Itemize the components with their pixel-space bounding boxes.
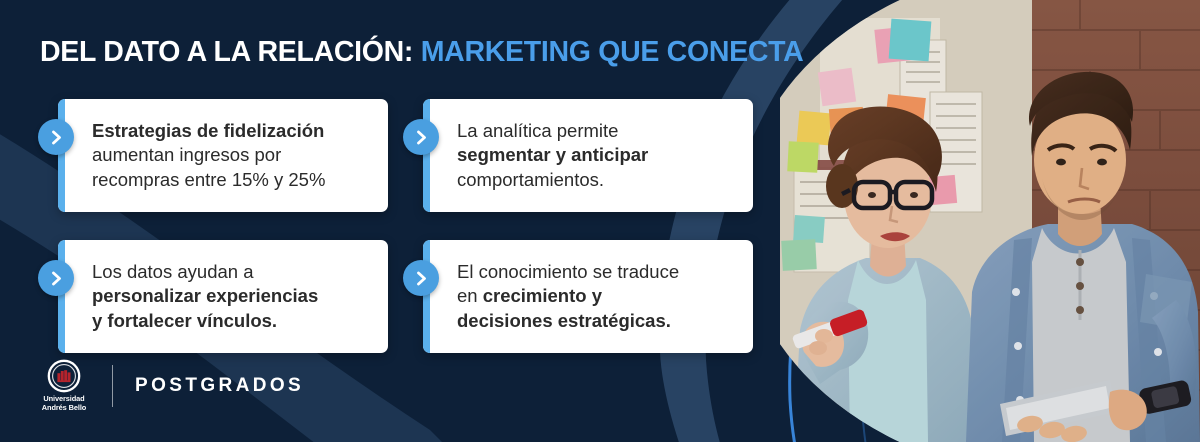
list-item[interactable]: Los datos ayudan a personalizar experien… bbox=[58, 240, 388, 353]
chevron-right-icon bbox=[403, 260, 439, 296]
university-logo: Universidad Andrés Bello bbox=[34, 359, 94, 412]
list-item-text: La analítica permite segmentar y anticip… bbox=[423, 109, 662, 202]
card-line: y fortalecer vínculos. bbox=[92, 309, 318, 333]
list-item[interactable]: Estrategias de fidelización aumentan ing… bbox=[58, 99, 388, 212]
list-item[interactable]: La analítica permite segmentar y anticip… bbox=[423, 99, 753, 212]
photo-panel bbox=[780, 0, 1200, 442]
universidad-andres-bello-crest-icon bbox=[47, 359, 81, 393]
card-line: aumentan ingresos por bbox=[92, 143, 325, 167]
key-points-list: Estrategias de fidelización aumentan ing… bbox=[58, 99, 778, 353]
card-line: El conocimiento se traduce bbox=[457, 260, 679, 284]
card-line: Los datos ayudan a bbox=[92, 260, 318, 284]
card-line: La analítica permite bbox=[457, 119, 648, 143]
two-colleagues-reviewing-tablet-photo bbox=[780, 0, 1200, 442]
list-item-text: Estrategias de fidelización aumentan ing… bbox=[58, 109, 339, 202]
list-item[interactable]: El conocimiento se traduce en crecimient… bbox=[423, 240, 753, 353]
card-line-lead: en bbox=[457, 285, 483, 306]
brand-label: POSTGRADOS bbox=[135, 375, 304, 397]
photo-ellipse-clip bbox=[780, 0, 1200, 442]
title-white-part: DEL DATO A LA RELACIÓN: bbox=[40, 36, 413, 68]
chevron-right-icon bbox=[38, 260, 74, 296]
card-line: crecimiento y bbox=[483, 285, 602, 306]
university-name-line2: Andrés Bello bbox=[42, 404, 86, 412]
card-line: decisiones estratégicas. bbox=[457, 309, 679, 333]
footer-branding: Universidad Andrés Bello POSTGRADOS bbox=[34, 359, 304, 412]
card-line: recompras entre 15% y 25% bbox=[92, 168, 325, 192]
chevron-right-icon bbox=[403, 119, 439, 155]
card-line: comportamientos. bbox=[457, 168, 648, 192]
card-line: segmentar y anticipar bbox=[457, 143, 648, 167]
university-name: Universidad Andrés Bello bbox=[42, 395, 86, 412]
marketing-banner: DEL DATO A LA RELACIÓN: MARKETING QUE CO… bbox=[0, 0, 1200, 442]
list-item-text: Los datos ayudan a personalizar experien… bbox=[58, 250, 332, 343]
list-item-text: El conocimiento se traduce en crecimient… bbox=[423, 250, 693, 343]
logo-divider bbox=[112, 365, 113, 407]
title-blue-part: MARKETING QUE CONECTA bbox=[421, 36, 804, 68]
card-line: personalizar experiencias bbox=[92, 284, 318, 308]
card-line: Estrategias de fidelización bbox=[92, 119, 325, 143]
page-title: DEL DATO A LA RELACIÓN: MARKETING QUE CO… bbox=[40, 38, 803, 67]
chevron-right-icon bbox=[38, 119, 74, 155]
